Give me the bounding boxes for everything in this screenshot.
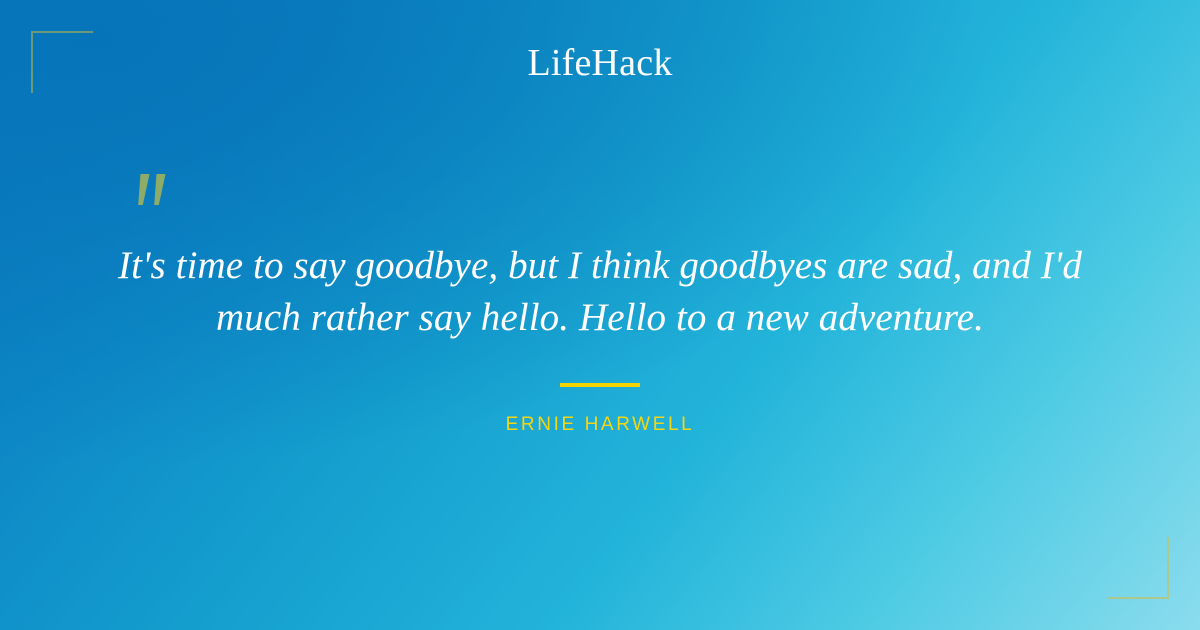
- brand-logo: LifeHack: [0, 40, 1200, 86]
- divider: [560, 383, 640, 387]
- double-quote-mark-icon: [130, 172, 176, 216]
- quote-line-1: It's time to say goodbye, but I think go…: [60, 240, 1140, 292]
- quote-card: LifeHack It's time to say goodbye, but I…: [0, 0, 1200, 630]
- quote-line-2: much rather say hello. Hello to a new ad…: [60, 292, 1140, 344]
- quote-author: ERNIE HARWELL: [60, 413, 1140, 437]
- quote-content: It's time to say goodbye, but I think go…: [60, 240, 1140, 437]
- corner-bracket-bottom-right-icon: [1107, 537, 1169, 599]
